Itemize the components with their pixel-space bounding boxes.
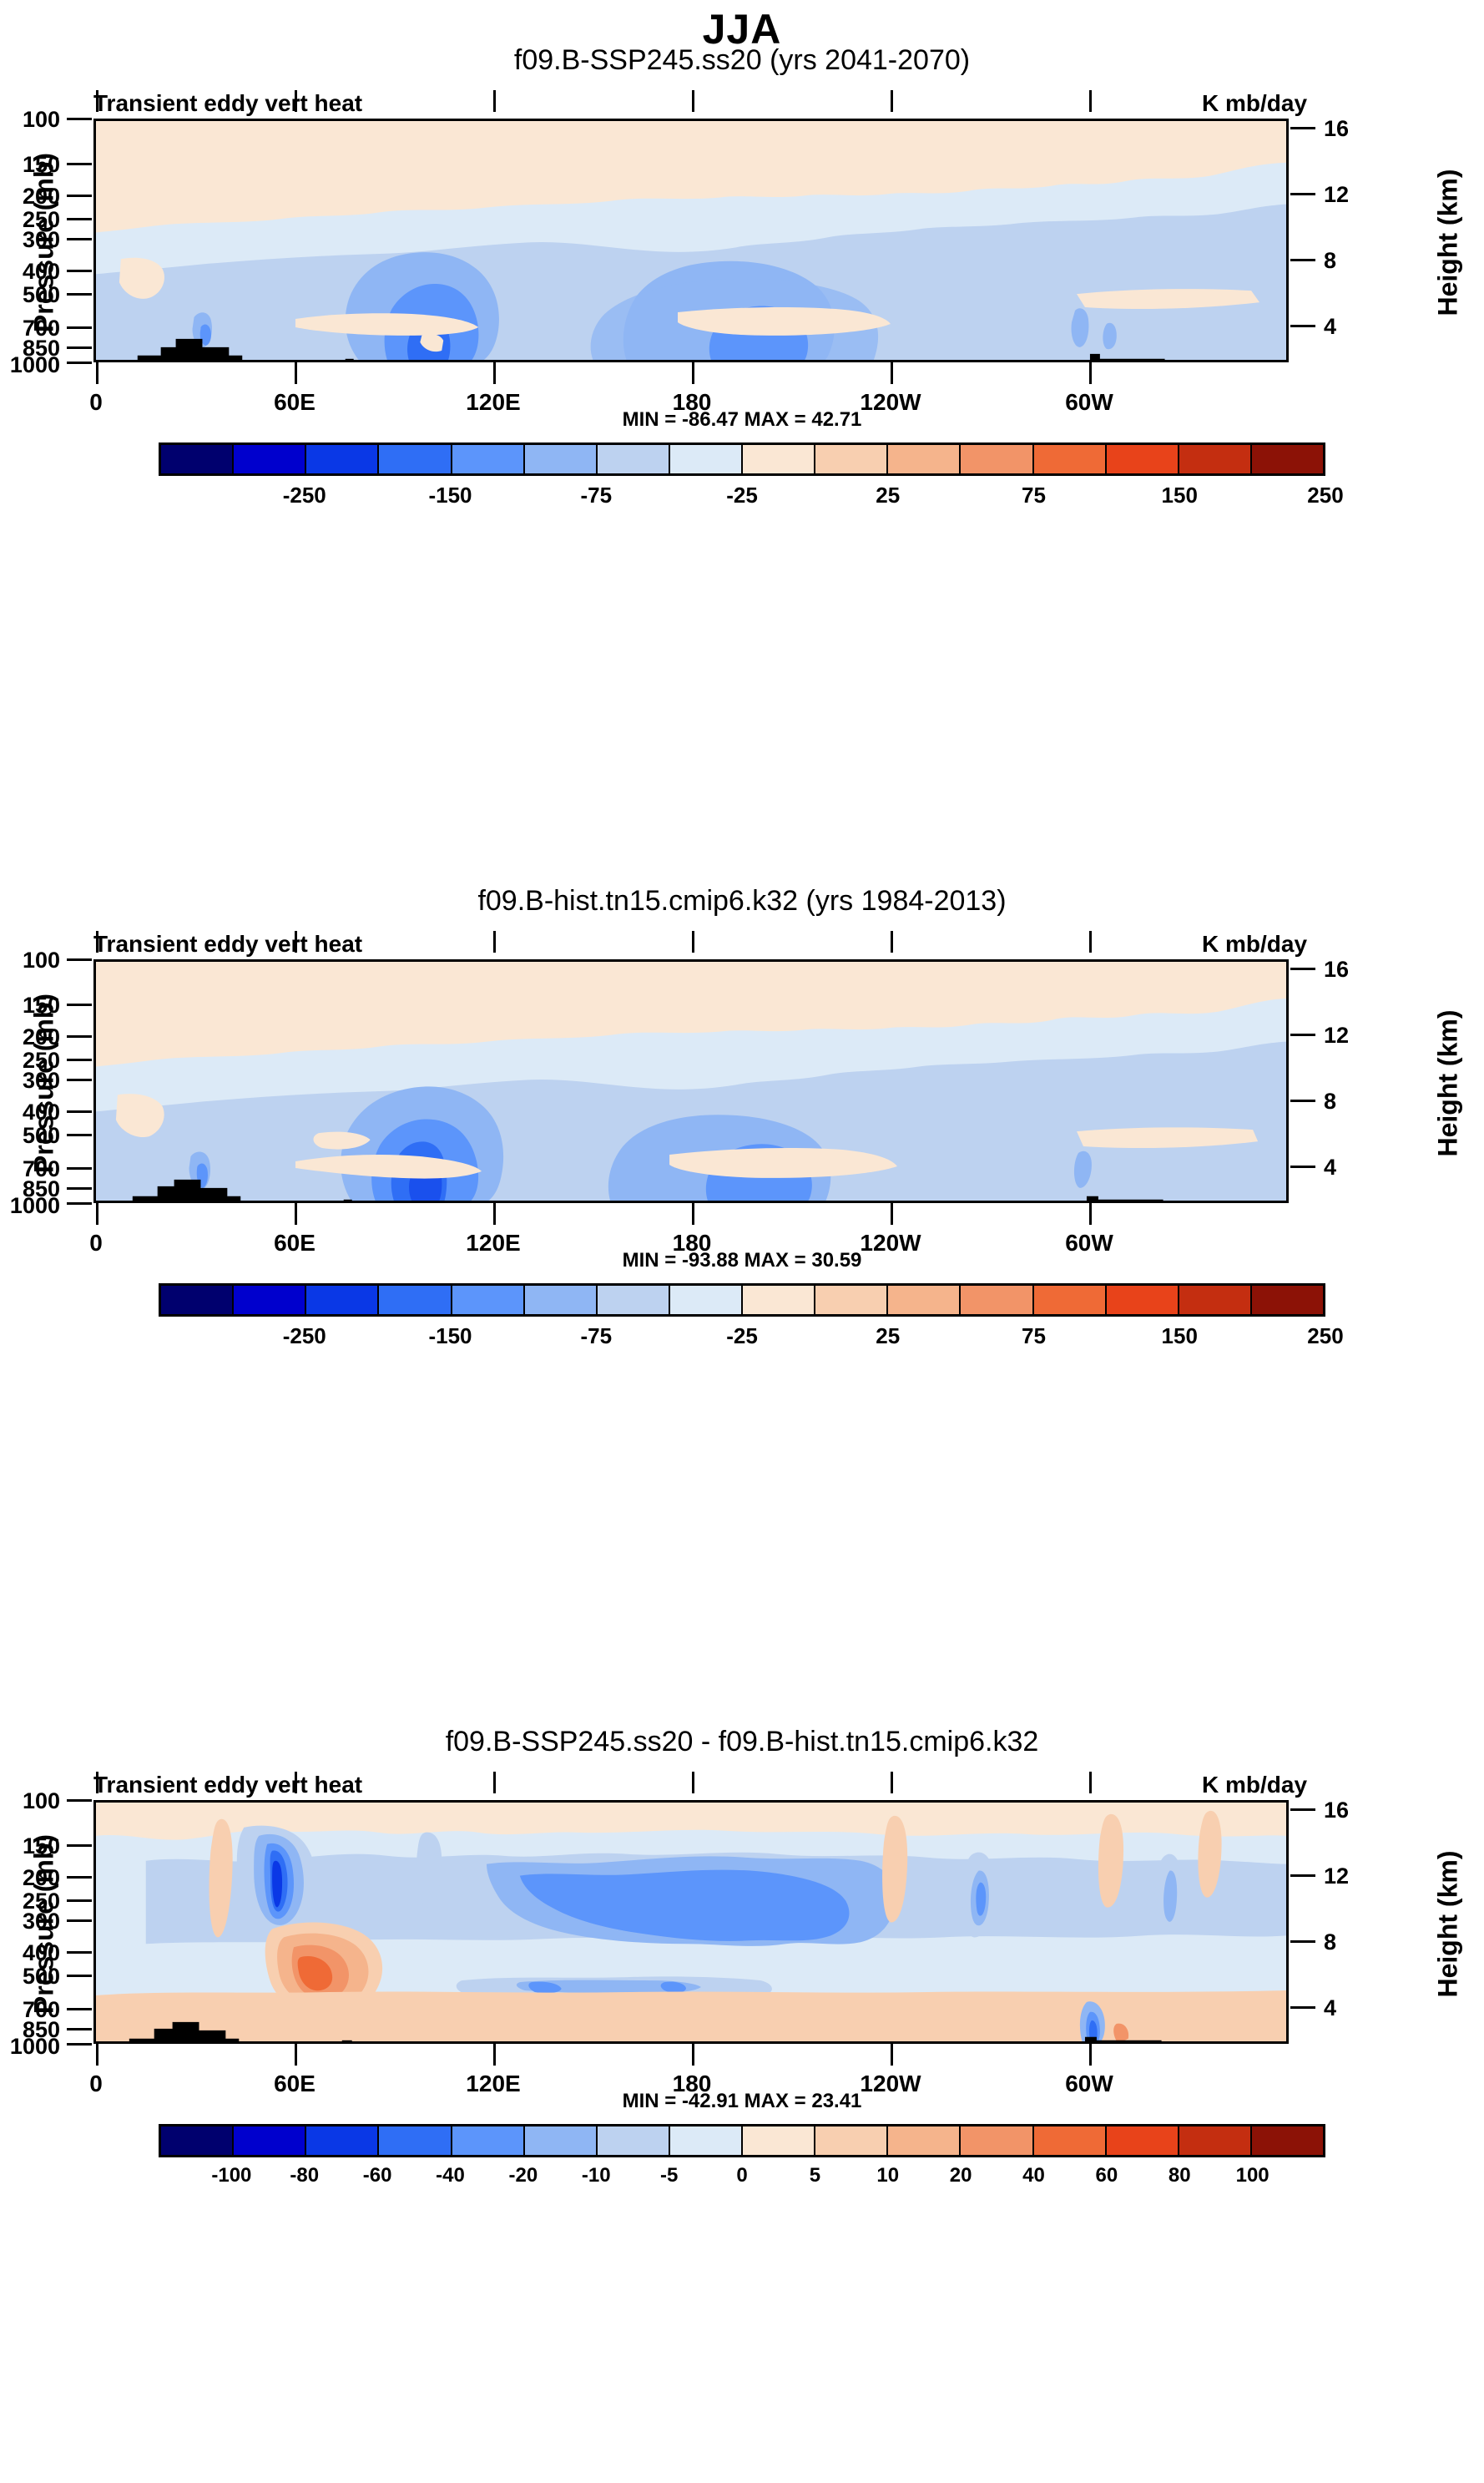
- panel-3-ytick-200: 200: [0, 1865, 60, 1891]
- panel-1-ytick-200: 200: [0, 184, 60, 210]
- panel-3-colorbar-label-12: 60: [1096, 2164, 1118, 2187]
- panel-2-y2-axis-title: Height (km): [1433, 963, 1464, 1205]
- panel-1-colorbar-cell-3: [379, 445, 452, 473]
- panel-1-ytick-100: 100: [0, 107, 60, 133]
- panel-2-colorbar-cell-1: [234, 1286, 306, 1314]
- panel-3-colorbar-cell-7: [670, 2126, 743, 2155]
- panel-1-ytick-1000: 1000: [0, 352, 60, 378]
- panel-3-colorbar-cell-0: [161, 2126, 234, 2155]
- panel-1-colorbar-label-7: 250: [1307, 483, 1343, 508]
- panel-3-title: f09.B-SSP245.ss20 - f09.B-hist.tn15.cmip…: [0, 1726, 1484, 1758]
- panel-1-colorbar-labels: -250-150-75-252575150250: [159, 483, 1325, 511]
- panel-3-colorbar-label-0: -100: [211, 2164, 251, 2187]
- panel-2-minmax: MIN = -93.88 MAX = 30.59: [0, 1249, 1484, 1272]
- panel-3-colorbar-label-3: -40: [436, 2164, 465, 2187]
- panel-3-ytick-300: 300: [0, 1909, 60, 1934]
- panel-2-ytick-400: 400: [0, 1100, 60, 1125]
- panel-2-ytick-500: 500: [0, 1123, 60, 1149]
- panel-1-colorbar-cell-2: [306, 445, 379, 473]
- panel-3-minmax: MIN = -42.91 MAX = 23.41: [0, 2090, 1484, 2113]
- panel-3-colorbar-cell-4: [452, 2126, 525, 2155]
- panel-3-ytick-1000: 1000: [0, 2034, 60, 2060]
- panel-3-colorbar-labels: -100-80-60-40-20-10-5051020406080100: [159, 2164, 1325, 2192]
- panel-2-colorbar-cell-15: [1252, 1286, 1323, 1314]
- panel-3-contour-field: [96, 1803, 1286, 2044]
- panel-3-htick-16: 16: [1324, 1798, 1349, 1823]
- panel-3-htick-12: 12: [1324, 1864, 1349, 1889]
- panel-2-htick-8: 8: [1324, 1089, 1336, 1115]
- panel-2-title: f09.B-hist.tn15.cmip6.k32 (yrs 1984-2013…: [0, 885, 1484, 918]
- panel-1-ytick-400: 400: [0, 259, 60, 285]
- panel-3-colorbar-label-10: 20: [950, 2164, 972, 2187]
- panel-1-colorbar-label-0: -250: [283, 483, 326, 508]
- panel-1-colorbar-cell-8: [743, 445, 815, 473]
- panel-3-colorbar-cell-9: [815, 2126, 888, 2155]
- panel-3-colorbar-cell-10: [888, 2126, 961, 2155]
- panel-2-ytick-300: 300: [0, 1068, 60, 1094]
- panel-3-units-label: K mb/day: [1202, 1772, 1307, 1798]
- panel-2-field-label: Transient eddy vert heat: [93, 931, 362, 958]
- panel-1-ytick-150: 150: [0, 152, 60, 178]
- panel-1-y2-axis-title: Height (km): [1433, 122, 1464, 364]
- panel-3-field-label: Transient eddy vert heat: [93, 1772, 362, 1798]
- panel-3-colorbar-cell-15: [1252, 2126, 1323, 2155]
- panel-3-colorbar-label-6: -5: [660, 2164, 678, 2187]
- panel-1-colorbar-label-4: 25: [876, 483, 900, 508]
- panel-2-colorbar-label-3: -25: [726, 1323, 758, 1349]
- panel-2-contour-field: [96, 962, 1286, 1203]
- panel-1-htick-16: 16: [1324, 116, 1349, 142]
- panel-3-colorbar-label-9: 10: [876, 2164, 899, 2187]
- panel-2-ytick-1000: 1000: [0, 1193, 60, 1219]
- panel-3-colorbar-label-2: -60: [363, 2164, 392, 2187]
- panel-3-ytick-150: 150: [0, 1833, 60, 1859]
- panel-1-contour-field: [96, 121, 1286, 362]
- panel-3-colorbar-label-5: -10: [582, 2164, 611, 2187]
- figure-page: JJA f09.B-SSP245.ss20 (yrs 2041-2070) Tr…: [0, 0, 1484, 2483]
- panel-1-colorbar-cell-9: [815, 445, 888, 473]
- panel-2-colorbar-cell-3: [379, 1286, 452, 1314]
- panel-3-colorbar-label-13: 80: [1169, 2164, 1191, 2187]
- panel-2-colorbar-cell-8: [743, 1286, 815, 1314]
- panel-2-colorbar-cell-4: [452, 1286, 525, 1314]
- panel-2-colorbar-cell-9: [815, 1286, 888, 1314]
- panel-2-colorbar-cell-13: [1107, 1286, 1179, 1314]
- panel-1-colorbar-cell-4: [452, 445, 525, 473]
- panel-3-plot: [93, 1800, 1289, 2044]
- panel-1-field-label: Transient eddy vert heat: [93, 90, 362, 117]
- panel-2-colorbar-cell-2: [306, 1286, 379, 1314]
- panel-2-colorbar-cell-11: [961, 1286, 1033, 1314]
- panel-3-colorbar-cell-14: [1179, 2126, 1252, 2155]
- panel-2-colorbar-cell-10: [888, 1286, 961, 1314]
- panel-3-colorbar-cell-1: [234, 2126, 306, 2155]
- panel-2-ytick-150: 150: [0, 993, 60, 1019]
- panel-2-colorbar-cell-6: [598, 1286, 670, 1314]
- panel-1-colorbar-cell-14: [1179, 445, 1252, 473]
- panel-1-title: f09.B-SSP245.ss20 (yrs 2041-2070): [0, 44, 1484, 77]
- panel-3-colorbar-label-1: -80: [290, 2164, 319, 2187]
- panel-3-colorbar-label-11: 40: [1022, 2164, 1045, 2187]
- panel-1-colorbar-cell-5: [525, 445, 598, 473]
- panel-1-colorbar-cell-13: [1107, 445, 1179, 473]
- panel-3-ytick-400: 400: [0, 1940, 60, 1966]
- panel-2-colorbar-label-5: 75: [1022, 1323, 1046, 1349]
- panel-2-htick-16: 16: [1324, 957, 1349, 983]
- panel-1-colorbar-label-1: -150: [428, 483, 472, 508]
- panel-3-colorbar-cell-12: [1034, 2126, 1107, 2155]
- panel-1-plot: [93, 119, 1289, 362]
- panel-3-ytick-100: 100: [0, 1788, 60, 1814]
- panel-2-colorbar-cell-14: [1179, 1286, 1252, 1314]
- panel-2-colorbar: [159, 1283, 1325, 1317]
- panel-3-colorbar-label-14: 100: [1236, 2164, 1269, 2187]
- panel-2-colorbar-cell-7: [670, 1286, 743, 1314]
- panel-3-htick-8: 8: [1324, 1929, 1336, 1955]
- panel-3-colorbar-label-4: -20: [509, 2164, 538, 2187]
- panel-3-colorbar-cell-8: [743, 2126, 815, 2155]
- panel-1-htick-4: 4: [1324, 314, 1336, 340]
- panel-1-ytick-500: 500: [0, 282, 60, 308]
- panel-1-minmax: MIN = -86.47 MAX = 42.71: [0, 408, 1484, 432]
- panel-2-colorbar-cell-12: [1034, 1286, 1107, 1314]
- panel-2-colorbar-label-0: -250: [283, 1323, 326, 1349]
- panel-2-colorbar-label-7: 250: [1307, 1323, 1343, 1349]
- panel-1-colorbar-label-5: 75: [1022, 483, 1046, 508]
- panel-1-colorbar-cell-12: [1034, 445, 1107, 473]
- panel-2-units-label: K mb/day: [1202, 931, 1307, 958]
- panel-2-colorbar-label-1: -150: [428, 1323, 472, 1349]
- panel-3-colorbar-cell-6: [598, 2126, 670, 2155]
- panel-2-colorbar-cell-0: [161, 1286, 234, 1314]
- panel-1-colorbar: [159, 442, 1325, 476]
- panel-2-colorbar-label-2: -75: [580, 1323, 612, 1349]
- panel-1-htick-8: 8: [1324, 248, 1336, 274]
- panel-1-htick-12: 12: [1324, 182, 1349, 208]
- panel-1-colorbar-cell-11: [961, 445, 1033, 473]
- panel-3-htick-4: 4: [1324, 1995, 1336, 2021]
- panel-2-ytick-100: 100: [0, 948, 60, 973]
- panel-1-colorbar-cell-0: [161, 445, 234, 473]
- panel-1-units-label: K mb/day: [1202, 90, 1307, 117]
- panel-1-colorbar-cell-15: [1252, 445, 1323, 473]
- panel-1-ytick-300: 300: [0, 227, 60, 253]
- panel-2-plot: [93, 959, 1289, 1203]
- panel-2-colorbar-label-6: 150: [1162, 1323, 1198, 1349]
- panel-2-colorbar-label-4: 25: [876, 1323, 900, 1349]
- panel-2-colorbar-labels: -250-150-75-252575150250: [159, 1323, 1325, 1352]
- panel-1-colorbar-cell-7: [670, 445, 743, 473]
- panel-1-colorbar-label-3: -25: [726, 483, 758, 508]
- panel-2-htick-4: 4: [1324, 1155, 1336, 1181]
- panel-3-colorbar-cell-11: [961, 2126, 1033, 2155]
- panel-2-ytick-200: 200: [0, 1024, 60, 1050]
- panel-1-colorbar-label-2: -75: [580, 483, 612, 508]
- panel-3-y2-axis-title: Height (km): [1433, 1803, 1464, 2046]
- panel-1-colorbar-cell-6: [598, 445, 670, 473]
- panel-3-colorbar: [159, 2124, 1325, 2157]
- panel-3-colorbar-cell-3: [379, 2126, 452, 2155]
- panel-3-colorbar-label-8: 5: [810, 2164, 820, 2187]
- panel-3-ytick-500: 500: [0, 1964, 60, 1990]
- panel-1-colorbar-cell-10: [888, 445, 961, 473]
- panel-2-htick-12: 12: [1324, 1023, 1349, 1049]
- panel-2-colorbar-cell-5: [525, 1286, 598, 1314]
- panel-1-colorbar-cell-1: [234, 445, 306, 473]
- panel-3-colorbar-cell-5: [525, 2126, 598, 2155]
- panel-3-colorbar-cell-13: [1107, 2126, 1179, 2155]
- panel-3-colorbar-label-7: 0: [736, 2164, 747, 2187]
- panel-3-colorbar-cell-2: [306, 2126, 379, 2155]
- panel-1-colorbar-label-6: 150: [1162, 483, 1198, 508]
